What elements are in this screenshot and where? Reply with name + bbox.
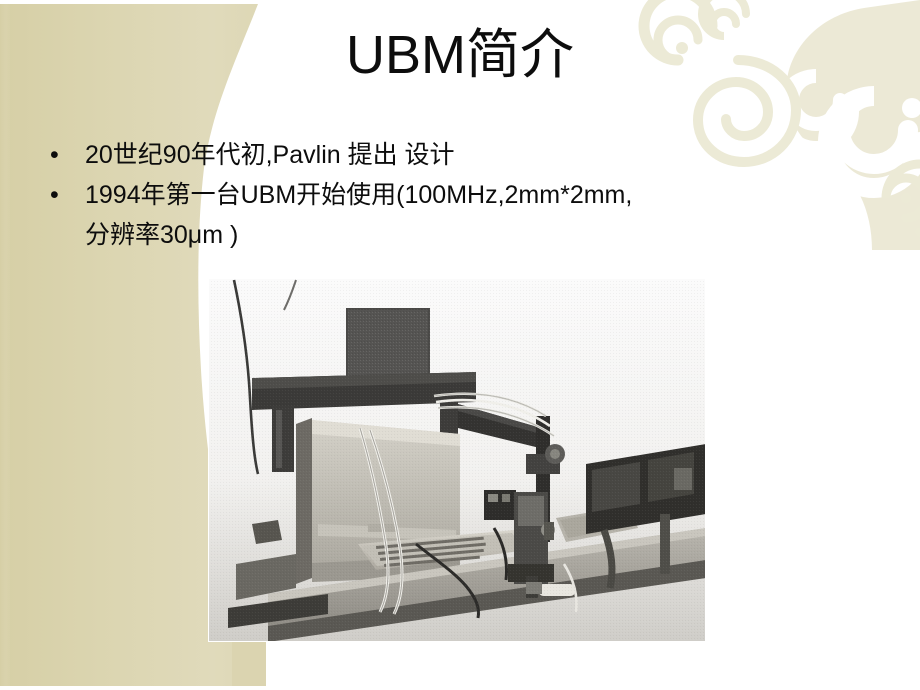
list-item-label-continued: 分辨率30μm ) — [85, 215, 840, 255]
bullet-list: • 20世纪90年代初,Pavlin 提出 设计 • 1994年第一台UBM开始… — [40, 135, 840, 255]
bullet-marker-icon: • — [50, 135, 59, 175]
list-item: • 1994年第一台UBM开始使用(100MHz,2mm*2mm, 分辨率30μ… — [40, 175, 840, 255]
presentation-slide: UBM简介 • 20世纪90年代初,Pavlin 提出 设计 • 1994年第一… — [0, 0, 920, 690]
list-item-label: 1994年第一台UBM开始使用(100MHz,2mm*2mm, — [85, 175, 840, 215]
ubm-apparatus-photo — [208, 278, 706, 642]
page-title: UBM简介 — [0, 26, 920, 84]
list-item: • 20世纪90年代初,Pavlin 提出 设计 — [40, 135, 840, 175]
bullet-marker-icon: • — [50, 175, 59, 215]
list-item-label: 20世纪90年代初,Pavlin 提出 设计 — [85, 135, 840, 175]
